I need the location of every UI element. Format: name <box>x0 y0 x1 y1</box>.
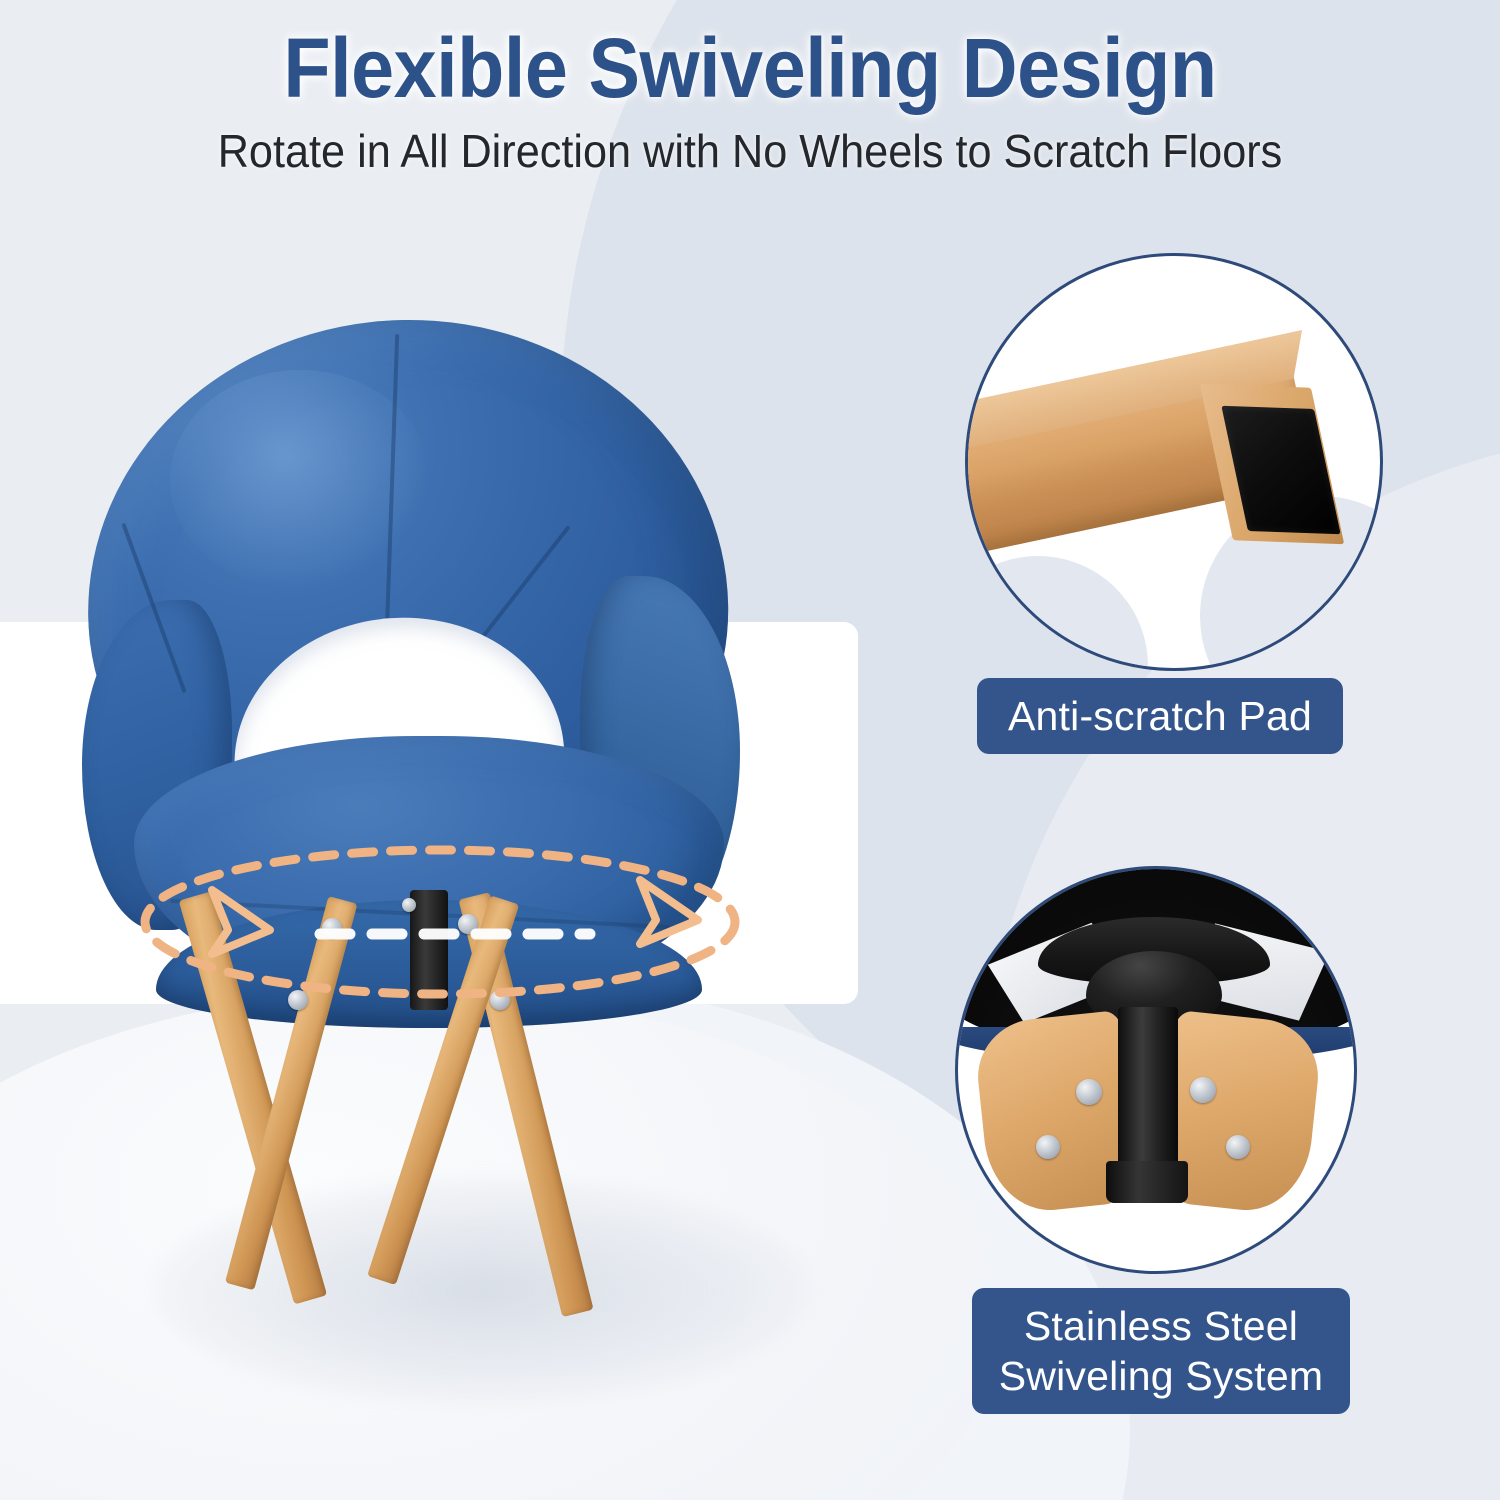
inset-anti-scratch-pad <box>965 253 1383 671</box>
chair-image <box>60 300 840 1350</box>
badge-swiveling-system-line1: Stainless Steel <box>994 1301 1328 1351</box>
product-feature-banner: Flexible Swiveling Design Rotate in All … <box>0 0 1500 1500</box>
page-title: Flexible Swiveling Design <box>60 0 1440 112</box>
inset-swiveling-system <box>955 866 1357 1274</box>
bracket-screw <box>1226 1135 1250 1159</box>
badge-swiveling-system: Stainless Steel Swiveling System <box>972 1288 1350 1414</box>
swivel-shaft-base <box>1106 1161 1188 1203</box>
bracket-screw <box>1190 1077 1216 1103</box>
stainless-steel-swivel-shaft <box>1118 1007 1178 1185</box>
rotation-arrows <box>120 830 760 1010</box>
bracket-screw <box>1036 1135 1060 1159</box>
inset-corner-shade-left <box>965 556 1148 671</box>
header: Flexible Swiveling Design Rotate in All … <box>0 0 1500 178</box>
badge-anti-scratch-pad: Anti-scratch Pad <box>977 678 1343 754</box>
bracket-screw <box>1076 1079 1102 1105</box>
badge-anti-scratch-pad-label: Anti-scratch Pad <box>1008 693 1312 739</box>
page-subtitle: Rotate in All Direction with No Wheels t… <box>45 112 1455 178</box>
badge-swiveling-system-line2: Swiveling System <box>994 1351 1328 1401</box>
